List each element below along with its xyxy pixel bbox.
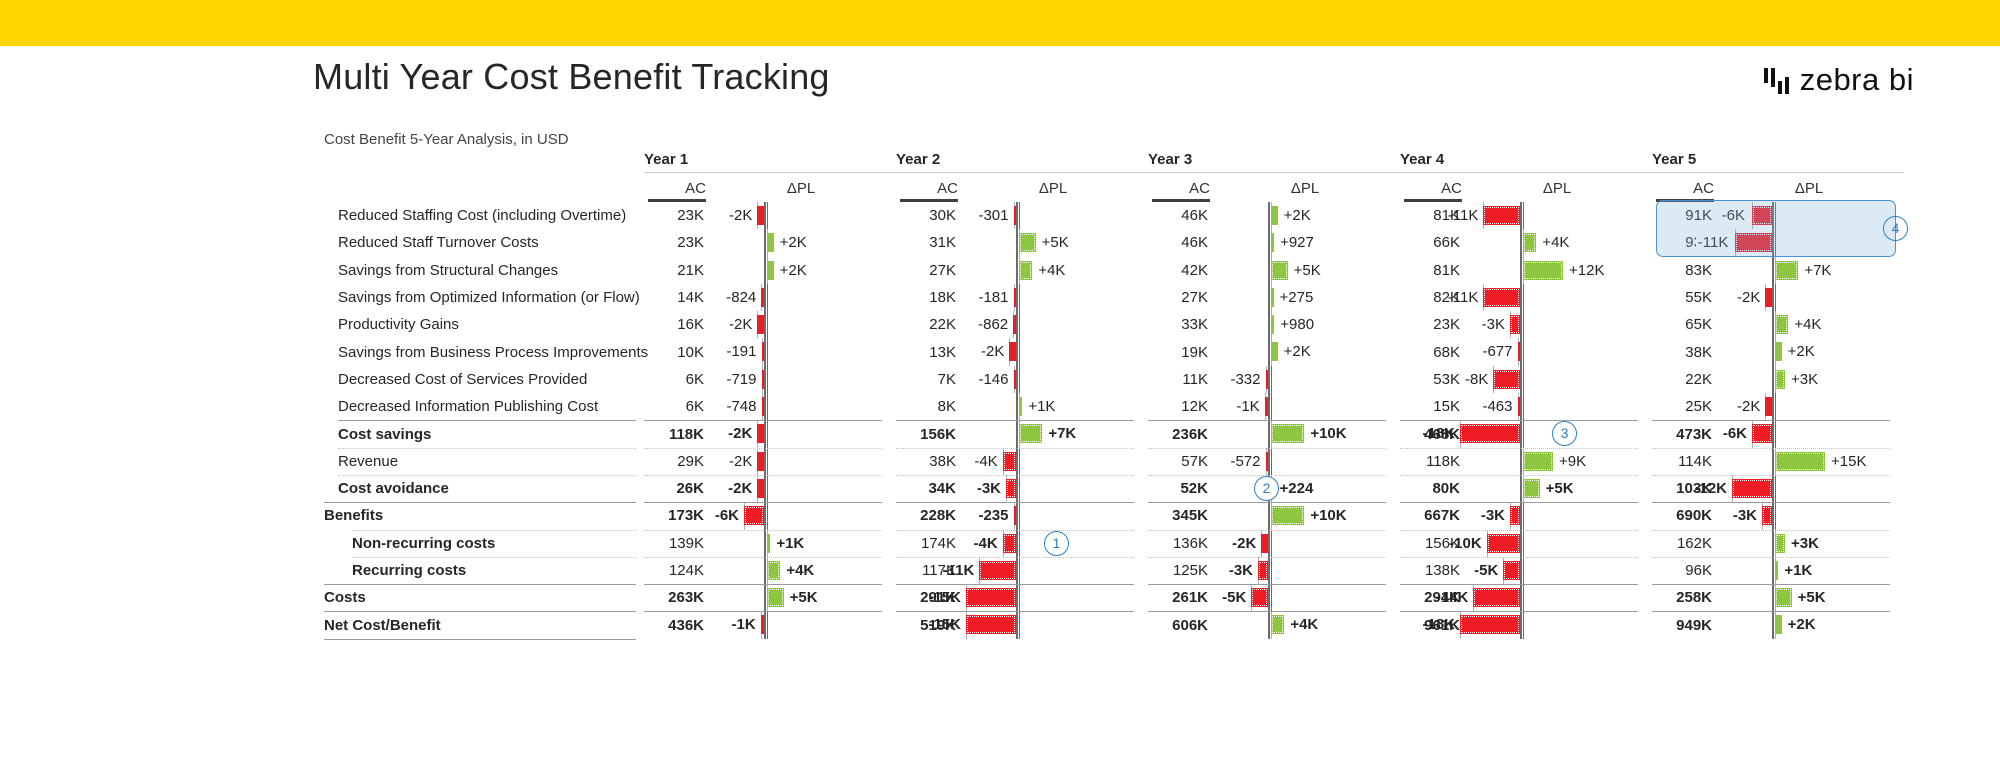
variance-label: +2K — [1284, 206, 1311, 225]
variance-label: -2K — [728, 424, 752, 443]
variance-chart-cell: -10K — [1462, 530, 1652, 557]
variance-bar — [1765, 397, 1772, 416]
ac-value-y3: 12K — [1148, 393, 1210, 420]
zebra-bi-logo: zebra bi — [1764, 62, 1914, 98]
ac-value-y3: 236K — [1148, 420, 1210, 447]
variance-bar — [1266, 452, 1269, 471]
variance-bar — [1752, 424, 1772, 443]
year-header-3: Year 3 — [1148, 150, 1400, 172]
ac-value-y3: 345K — [1148, 502, 1210, 529]
variance-label: -463 — [1482, 397, 1512, 416]
variance-label: -3K — [1229, 561, 1253, 580]
variance-bar — [1775, 534, 1785, 553]
variance-chart-cell: +224 — [1210, 475, 1400, 502]
ac-value-y1: 118K — [644, 420, 706, 447]
pl-chart-y4: -11K — [1462, 284, 1652, 311]
table-row[interactable]: Decreased Information Publishing Cost6K-… — [324, 393, 1904, 420]
variance-label: +12K — [1569, 261, 1604, 280]
variance-chart-cell: -1K — [1210, 393, 1400, 420]
variance-bar — [1003, 452, 1016, 471]
pl-chart-y4: +4K — [1462, 229, 1652, 256]
variance-label: -14K — [1436, 588, 1469, 607]
page-title: Multi Year Cost Benefit Tracking — [313, 56, 830, 98]
variance-label: +5K — [1546, 479, 1574, 498]
variance-chart-cell: +5K — [1462, 475, 1652, 502]
variance-label: -18K — [1422, 615, 1455, 634]
variance-label: +4K — [1794, 315, 1821, 334]
ac-value-y1: 16K — [644, 311, 706, 338]
reference-axis — [1772, 611, 1774, 638]
variance-chart-cell: -463 — [1462, 393, 1652, 420]
variance-table: Year 1Year 2Year 3Year 4Year 5ACΔPLACΔPL… — [324, 150, 1904, 639]
reference-axis — [764, 229, 766, 256]
variance-bar — [1775, 315, 1788, 334]
ac-value-y3: 33K — [1148, 311, 1210, 338]
pl-chart-y5: +7K — [1714, 257, 1904, 284]
ac-value-y3: 19K — [1148, 338, 1210, 365]
variance-bar — [1762, 506, 1772, 525]
pl-chart-y1: +4K — [706, 557, 896, 584]
variance-bar — [757, 206, 764, 225]
pl-chart-y2: -146 — [958, 366, 1148, 393]
reference-axis — [1520, 530, 1522, 557]
ac-value-y5: 473K — [1652, 420, 1714, 447]
pl-chart-y4: -3K — [1462, 502, 1652, 529]
variance-label: -3K — [1482, 315, 1505, 334]
variance-label: +4K — [1038, 261, 1065, 280]
pl-chart-y3: -5K — [1210, 584, 1400, 611]
ac-value-y5: 162K — [1652, 530, 1714, 557]
reference-axis — [1520, 611, 1522, 638]
pl-header-5: ΔPL — [1714, 172, 1904, 198]
table-row[interactable]: Cost savings118K-2K156K+7K236K+10K468K-1… — [324, 420, 1904, 447]
table-row[interactable]: Savings from Business Process Improvemen… — [324, 338, 1904, 365]
ac-header-1: AC — [644, 172, 706, 198]
variance-chart-cell: +275 — [1210, 284, 1400, 311]
variance-label: -824 — [726, 288, 756, 307]
variance-chart-cell: +2K — [1714, 611, 1904, 638]
variance-bar — [1271, 342, 1278, 361]
variance-bar — [1473, 588, 1520, 607]
variance-bar — [1271, 615, 1284, 634]
ac-value-y5: 114K — [1652, 448, 1714, 475]
ac-value-y5: 65K — [1652, 311, 1714, 338]
variance-label: -11K — [1448, 288, 1479, 307]
row-label: Revenue — [324, 448, 644, 475]
pl-chart-y2: -181 — [958, 284, 1148, 311]
pl-chart-y5: -6K — [1714, 202, 1904, 229]
variance-label: -2K — [729, 315, 752, 334]
variance-chart-cell: -677 — [1462, 338, 1652, 365]
table-row[interactable]: Savings from Structural Changes21K+2K27K… — [324, 257, 1904, 284]
variance-bar — [767, 261, 774, 280]
variance-label: +15K — [1831, 452, 1866, 471]
variance-chart-cell: -3K — [1210, 557, 1400, 584]
variance-label: -6K — [1720, 206, 1747, 225]
variance-chart-cell: +5K — [1210, 257, 1400, 284]
pl-chart-y1: -2K — [706, 202, 896, 229]
variance-chart-cell: +7K — [958, 420, 1148, 447]
reference-axis — [1520, 475, 1522, 502]
pl-chart-y4: +9K — [1462, 448, 1652, 475]
row-label: Reduced Staff Turnover Costs — [324, 229, 644, 256]
ac-value-y4: 118K — [1400, 448, 1462, 475]
variance-bar — [1265, 397, 1268, 416]
table-row[interactable]: Non-recurring costs139K+1K174K-4K136K-2K… — [324, 530, 1904, 557]
variance-chart-cell: -4K — [958, 448, 1148, 475]
variance-chart-cell: +4K — [706, 557, 896, 584]
pl-chart-y1: -6K — [706, 502, 896, 529]
reference-axis — [764, 557, 766, 584]
reference-axis — [1520, 229, 1522, 256]
reference-axis — [1772, 393, 1774, 420]
ac-value-y3: 261K — [1148, 584, 1210, 611]
ac-value-y4: 138K — [1400, 557, 1462, 584]
ac-value-y4: 66K — [1400, 229, 1462, 256]
variance-bar — [1518, 397, 1521, 416]
pl-chart-y5: -11K — [1714, 229, 1904, 256]
variance-bar — [1261, 534, 1268, 553]
reference-axis — [764, 284, 766, 311]
variance-chart-cell: +1K — [1714, 557, 1904, 584]
row-label: Savings from Business Process Improvemen… — [324, 338, 644, 365]
pl-chart-y4: -5K — [1462, 557, 1652, 584]
variance-bar — [1523, 233, 1536, 252]
variance-bar — [1271, 506, 1304, 525]
pl-header-3: ΔPL — [1210, 172, 1400, 198]
ac-value-y5: 22K — [1652, 366, 1714, 393]
row-label: Reduced Staffing Cost (including Overtim… — [324, 202, 644, 229]
variance-label: -572 — [1230, 452, 1260, 471]
variance-bar — [1775, 561, 1778, 580]
pl-chart-y2: -3K — [958, 475, 1148, 502]
variance-bar — [767, 561, 780, 580]
variance-label: -2K — [728, 479, 752, 498]
row-label: Net Cost/Benefit — [324, 611, 644, 638]
variance-label: -301 — [978, 206, 1008, 225]
variance-label: -18K — [1422, 424, 1455, 443]
pl-chart-y5: -2K — [1714, 393, 1904, 420]
pl-chart-y1: -191 — [706, 338, 896, 365]
pl-chart-y4: -10K — [1462, 530, 1652, 557]
reference-axis — [1520, 502, 1522, 529]
pl-chart-y4: -14K — [1462, 584, 1652, 611]
variance-chart-cell: +1K — [706, 530, 896, 557]
variance-label: +3K — [1791, 534, 1819, 553]
variance-bar — [1009, 342, 1016, 361]
row-label: Savings from Structural Changes — [324, 257, 644, 284]
variance-label: -2K — [1737, 397, 1760, 416]
row-label: Cost savings — [324, 420, 644, 447]
variance-bar — [979, 561, 1016, 580]
reference-axis — [1520, 202, 1522, 229]
ac-value-y1: 26K — [644, 475, 706, 502]
variance-chart-cell: -11K — [1462, 202, 1652, 229]
table-row[interactable]: Decreased Cost of Services Provided6K-71… — [324, 366, 1904, 393]
pl-chart-y1: -2K — [706, 311, 896, 338]
reference-axis — [1520, 311, 1522, 338]
variance-chart-cell: -5K — [1462, 557, 1652, 584]
reference-axis — [1772, 502, 1774, 529]
pl-chart-y5: -2K — [1714, 284, 1904, 311]
ac-value-y2: 30K — [896, 202, 958, 229]
variance-label: +3K — [1791, 370, 1818, 389]
pl-header-1: ΔPL — [706, 172, 896, 198]
variance-label: +10K — [1310, 424, 1346, 443]
year-header-4: Year 4 — [1400, 150, 1652, 172]
table-row[interactable]: Reduced Staff Turnover Costs23K+2K31K+5K… — [324, 229, 1904, 256]
variance-bar — [1775, 342, 1782, 361]
pl-chart-y3: -572 — [1210, 448, 1400, 475]
pl-chart-y2: +1K — [958, 393, 1148, 420]
ac-value-y2: 156K — [896, 420, 958, 447]
row-label: Recurring costs — [324, 557, 644, 584]
variance-chart-cell: -2K — [706, 420, 896, 447]
variance-label: -11K — [1448, 206, 1479, 225]
ac-header-2: AC — [896, 172, 958, 198]
variance-label: +2K — [1788, 342, 1815, 361]
variance-label: +4K — [1542, 233, 1569, 252]
pl-chart-y4: +5K — [1462, 475, 1652, 502]
variance-label: +9K — [1559, 452, 1586, 471]
pl-chart-y4: -11K — [1462, 202, 1652, 229]
pl-chart-y1: -2K — [706, 420, 896, 447]
zebra-bars-icon — [1764, 66, 1789, 94]
variance-bar — [767, 233, 774, 252]
row-label: Decreased Information Publishing Cost — [324, 393, 644, 420]
ac-value-y2: 31K — [896, 229, 958, 256]
variance-bar — [757, 315, 764, 334]
variance-chart-cell: -11K — [1462, 284, 1652, 311]
variance-chart-cell: +2K — [706, 229, 896, 256]
variance-label: +1K — [776, 534, 804, 553]
table-row[interactable]: Costs263K+5K291K-15K261K-5K294K-14K258K+… — [324, 584, 1904, 611]
reference-axis — [764, 420, 766, 447]
variance-bar — [761, 615, 764, 634]
ac-header-3: AC — [1148, 172, 1210, 198]
pl-chart-y4: -18K — [1462, 611, 1652, 638]
ac-value-y2: 13K — [896, 338, 958, 365]
table-row[interactable]: Productivity Gains16K-2K22K-86233K+98023… — [324, 311, 1904, 338]
ac-value-y1: 436K — [644, 611, 706, 638]
ac-value-y1: 173K — [644, 502, 706, 529]
variance-bar — [1014, 370, 1017, 389]
variance-label: +980 — [1280, 315, 1314, 334]
variance-chart-cell: -6K — [1714, 420, 1904, 447]
ac-value-y2: 18K — [896, 284, 958, 311]
reference-axis — [1016, 284, 1018, 311]
variance-bar — [1460, 424, 1520, 443]
reference-axis — [1268, 448, 1270, 475]
variance-bar — [966, 588, 1016, 607]
pl-chart-y2: +4K — [958, 257, 1148, 284]
table-row[interactable]: Revenue29K-2K38K-4K57K-572118K+9K114K+15… — [324, 448, 1904, 475]
variance-label: +5K — [1294, 261, 1321, 280]
table-row[interactable]: Net Cost/Benefit436K-1K519K-15K606K+4K96… — [324, 611, 1904, 638]
reference-axis — [1268, 229, 1270, 256]
reference-axis — [1772, 202, 1774, 229]
variance-bar — [1019, 397, 1022, 416]
annotation-marker-4[interactable]: 4 — [1883, 216, 1908, 241]
variance-bar — [1765, 288, 1772, 307]
variance-chart-cell: +10K — [1210, 502, 1400, 529]
pl-chart-y5: +5K — [1714, 584, 1904, 611]
variance-label: +224 — [1280, 479, 1314, 498]
variance-label: -1K — [1236, 397, 1259, 416]
variance-label: +927 — [1280, 233, 1314, 252]
pl-chart-y3: +5K — [1210, 257, 1400, 284]
ac-value-y1: 10K — [644, 338, 706, 365]
pl-chart-y1: +5K — [706, 584, 896, 611]
ac-value-y2: 27K — [896, 257, 958, 284]
variance-chart-cell: -862 — [958, 311, 1148, 338]
pl-chart-y3: +4K — [1210, 611, 1400, 638]
variance-bar — [1510, 506, 1520, 525]
reference-axis — [1016, 393, 1018, 420]
variance-bar — [762, 342, 765, 361]
pl-chart-y3: +927 — [1210, 229, 1400, 256]
reference-axis — [1772, 229, 1774, 256]
variance-bar — [761, 288, 764, 307]
variance-chart-cell: +5K — [1714, 584, 1904, 611]
pl-chart-y5: +15K — [1714, 448, 1904, 475]
variance-label: -2K — [1232, 534, 1256, 553]
reference-axis — [764, 393, 766, 420]
variance-label: +10K — [1310, 506, 1346, 525]
variance-label: +4K — [1290, 615, 1318, 634]
variance-bar — [1493, 370, 1520, 389]
table-row[interactable]: Reduced Staffing Cost (including Overtim… — [324, 202, 1904, 229]
pl-chart-y5: +3K — [1714, 530, 1904, 557]
ac-value-y3: 11K — [1148, 366, 1210, 393]
variance-bar — [1271, 206, 1278, 225]
variance-bar — [1271, 424, 1304, 443]
variance-bar — [1775, 261, 1798, 280]
ac-value-y5: 55K — [1652, 284, 1714, 311]
reference-axis — [1520, 366, 1522, 393]
reference-axis — [764, 311, 766, 338]
reference-axis — [1520, 420, 1522, 447]
reference-axis — [1520, 584, 1522, 611]
reference-axis — [1016, 229, 1018, 256]
reference-axis — [1268, 393, 1270, 420]
variance-label: +4K — [786, 561, 814, 580]
reference-axis — [1520, 338, 1522, 365]
reference-axis — [1016, 202, 1018, 229]
ac-value-y3: 125K — [1148, 557, 1210, 584]
ac-value-y2: 38K — [896, 448, 958, 475]
row-separator — [324, 639, 636, 640]
variance-label: +275 — [1280, 288, 1314, 307]
logo-text: zebra bi — [1800, 62, 1914, 98]
row-label: Savings from Optimized Information (or F… — [324, 284, 644, 311]
variance-label: +7K — [1048, 424, 1076, 443]
ac-value-y1: 23K — [644, 229, 706, 256]
variance-bar — [1271, 315, 1274, 334]
pl-chart-y1: +1K — [706, 530, 896, 557]
table-row[interactable]: Cost avoidance26K-2K34K-3K52K+22480K+5K1… — [324, 475, 1904, 502]
variance-label: +2K — [780, 261, 807, 280]
pl-chart-y2: -862 — [958, 311, 1148, 338]
variance-chart-cell: +5K — [706, 584, 896, 611]
variance-chart-cell: +15K — [1714, 448, 1904, 475]
ac-value-y3: 136K — [1148, 530, 1210, 557]
variance-chart-cell: +2K — [1210, 338, 1400, 365]
ac-value-y1: 6K — [644, 366, 706, 393]
pl-chart-y4: -8K — [1462, 366, 1652, 393]
variance-bar — [1014, 506, 1017, 525]
variance-label: -8K — [1465, 370, 1488, 389]
reference-axis — [1772, 584, 1774, 611]
pl-chart-y5: +2K — [1714, 611, 1904, 638]
ac-value-y2: 174K — [896, 530, 958, 557]
ac-value-y5: 96K — [1652, 557, 1714, 584]
ac-value-y3: 606K — [1148, 611, 1210, 638]
variance-bar — [1752, 206, 1772, 225]
pl-chart-y1: -1K — [706, 611, 896, 638]
top-banner — [0, 0, 2000, 46]
reference-axis — [764, 366, 766, 393]
table-row[interactable]: Benefits173K-6K228K-235345K+10K667K-3K69… — [324, 502, 1904, 529]
ac-value-y4: 68K — [1400, 338, 1462, 365]
row-label: Cost avoidance — [324, 475, 644, 502]
reference-axis — [764, 448, 766, 475]
reference-axis — [764, 257, 766, 284]
table-row[interactable]: Recurring costs124K+4K117K-11K125K-3K138… — [324, 557, 1904, 584]
pl-chart-y1: -719 — [706, 366, 896, 393]
variance-chart-cell: -748 — [706, 393, 896, 420]
variance-label: -4K — [974, 534, 998, 553]
pl-chart-y5: -3K — [1714, 502, 1904, 529]
variance-bar — [1251, 588, 1268, 607]
variance-chart-cell: -2K — [706, 475, 896, 502]
annotation-marker-1[interactable]: 1 — [1044, 531, 1069, 556]
reference-axis — [1772, 420, 1774, 447]
variance-bar — [767, 534, 770, 553]
variance-bar — [1014, 206, 1017, 225]
table-row[interactable]: Savings from Optimized Information (or F… — [324, 284, 1904, 311]
ac-value-y3: 57K — [1148, 448, 1210, 475]
reference-axis — [1268, 584, 1270, 611]
variance-chart-cell: +927 — [1210, 229, 1400, 256]
variance-bar — [1460, 615, 1520, 634]
ac-header-5: AC — [1652, 172, 1714, 198]
reference-axis — [764, 502, 766, 529]
pl-chart-y1: -2K — [706, 448, 896, 475]
ac-value-y2: 8K — [896, 393, 958, 420]
variance-label: -6K — [715, 506, 739, 525]
pl-chart-y3: +980 — [1210, 311, 1400, 338]
ac-value-y2: 34K — [896, 475, 958, 502]
annotation-marker-2[interactable]: 2 — [1254, 476, 1279, 501]
variance-label: +2K — [780, 233, 807, 252]
variance-chart-cell: +980 — [1210, 311, 1400, 338]
row-label: Benefits — [324, 502, 644, 529]
report-page: Multi Year Cost Benefit Tracking zebra b… — [0, 0, 2000, 760]
variance-label: -6K — [1723, 424, 1747, 443]
variance-label: -332 — [1230, 370, 1260, 389]
variance-label: -191 — [726, 342, 756, 361]
reference-axis — [1268, 311, 1270, 338]
ac-value-y1: 263K — [644, 584, 706, 611]
ac-value-y5: 949K — [1652, 611, 1714, 638]
year-header-5: Year 5 — [1652, 150, 1904, 172]
variance-chart-cell: -2K — [1210, 530, 1400, 557]
ac-value-y4: 81K — [1400, 257, 1462, 284]
ac-value-y5: 25K — [1652, 393, 1714, 420]
pl-chart-y5: +2K — [1714, 338, 1904, 365]
reference-axis — [1772, 338, 1774, 365]
